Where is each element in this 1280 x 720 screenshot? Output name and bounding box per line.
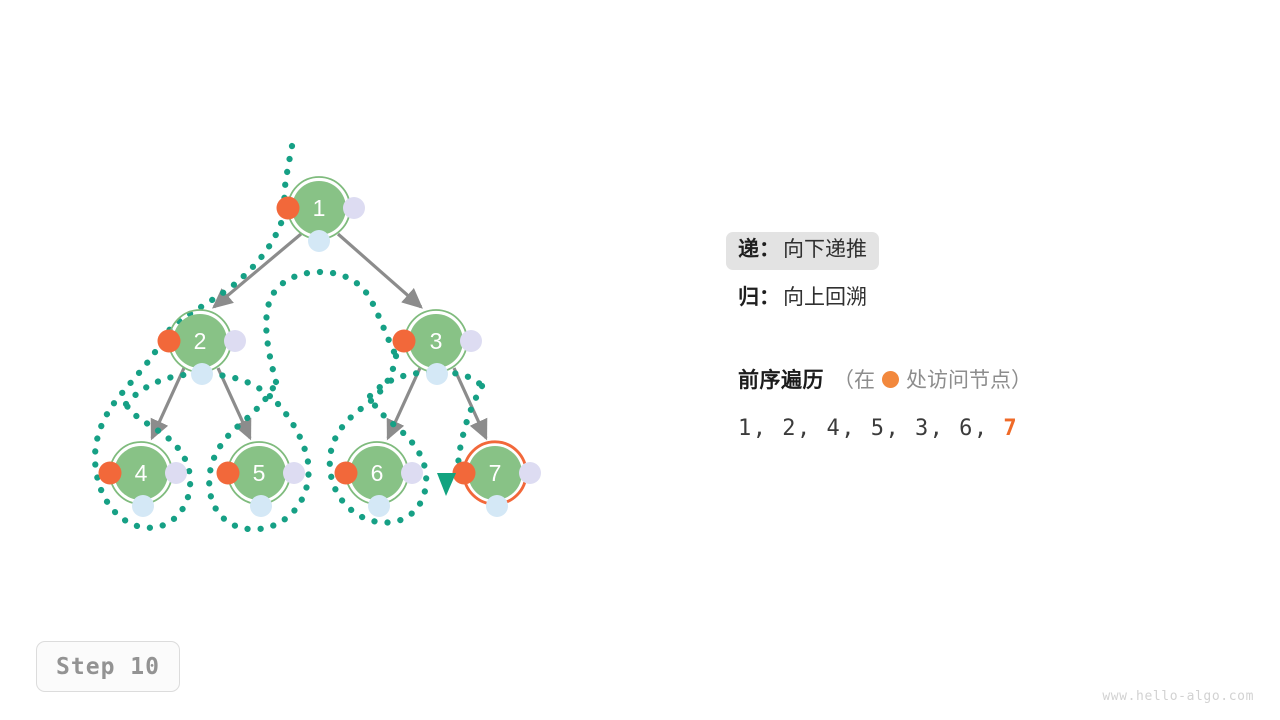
node-4-label: 4 [135,460,148,486]
binary-tree-diagram: 1 2 3 4 [0,0,640,600]
traversal-order-title: 前序遍历 [738,364,824,394]
node-1-label: 1 [313,195,326,221]
node-3-label: 3 [430,328,443,354]
legend-recurse-line: 递： 向下递推 [726,232,1206,270]
legend-backtrack-badge: 归： 向上回溯 [726,280,879,318]
node-4-bottom-dot [132,495,154,517]
tree-node-2[interactable]: 2 [158,310,247,385]
node-2-label: 2 [194,328,207,354]
step-badge: Step 10 [36,641,180,692]
node-3-visit-dot [393,330,416,353]
node-2-visit-dot [158,330,181,353]
node-4-visit-dot [99,462,122,485]
watermark: www.hello-algo.com [1102,689,1254,704]
path-left-to-right-subtree [266,272,396,382]
legend-backtrack-line: 归： 向上回溯 [726,270,1206,318]
tree-node-5[interactable]: 5 [217,442,306,517]
node-1-right-dot [343,197,365,219]
node-5-bottom-dot [250,495,272,517]
tree-node-4[interactable]: 4 [99,442,188,517]
legend-recurse-label: 递： [738,239,780,260]
node-1-bottom-dot [308,230,330,252]
tree-node-3[interactable]: 3 [393,310,483,385]
node-3-bottom-dot [426,363,448,385]
traversal-values-current: 7 [1003,416,1018,441]
tree-node-1[interactable]: 1 [277,177,366,252]
node-2-right-dot [224,330,246,352]
traversal-order-block: 前序遍历 （在 处访问节点） 1, 2, 4, 5, 3, 6, 7 [726,364,1206,441]
tree-node-7[interactable]: 7 [437,442,541,517]
tree-node-6[interactable]: 6 [335,442,424,517]
traversal-note-close: 处访问节点） [906,364,1032,394]
node-6-label: 6 [371,460,384,486]
node-6-right-dot [401,462,423,484]
node-1-visit-dot [277,197,300,220]
node-5-right-dot [283,462,305,484]
node-7-label: 7 [489,460,502,486]
node-6-bottom-dot [368,495,390,517]
node-5-visit-dot [217,462,240,485]
edge-1-2 [214,234,301,307]
node-7-bottom-dot [486,495,508,517]
node-4-right-dot [165,462,187,484]
node-5-label: 5 [253,460,266,486]
legend-recurse-text: 向下递推 [783,239,867,260]
current-position-pointer-icon [437,473,456,496]
traversal-note-open: （在 [833,364,875,394]
node-2-bottom-dot [191,363,213,385]
node-6-visit-dot [335,462,358,485]
traversal-order-heading: 前序遍历 （在 处访问节点） [738,364,1206,394]
legend-backtrack-label: 归： [738,287,780,308]
legend-backtrack-text: 向上回溯 [783,287,867,308]
illustration-canvas: 1 2 3 4 [0,0,1280,720]
edge-1-3 [338,234,421,307]
visit-marker-dot-icon [882,371,899,388]
legend-panel: 递： 向下递推 归： 向上回溯 前序遍历 （在 处访问节点） 1, 2, 4, … [726,232,1206,441]
node-3-right-dot [460,330,482,352]
traversal-values-prefix: 1, 2, 4, 5, 3, 6, [738,416,989,441]
path-root-to-left-subtree [162,146,292,341]
traversal-order-note: （在 处访问节点） [833,364,1032,394]
legend-recurse-badge: 递： 向下递推 [726,232,879,270]
traversal-order-values: 1, 2, 4, 5, 3, 6, 7 [738,416,1206,441]
node-7-right-dot [519,462,541,484]
